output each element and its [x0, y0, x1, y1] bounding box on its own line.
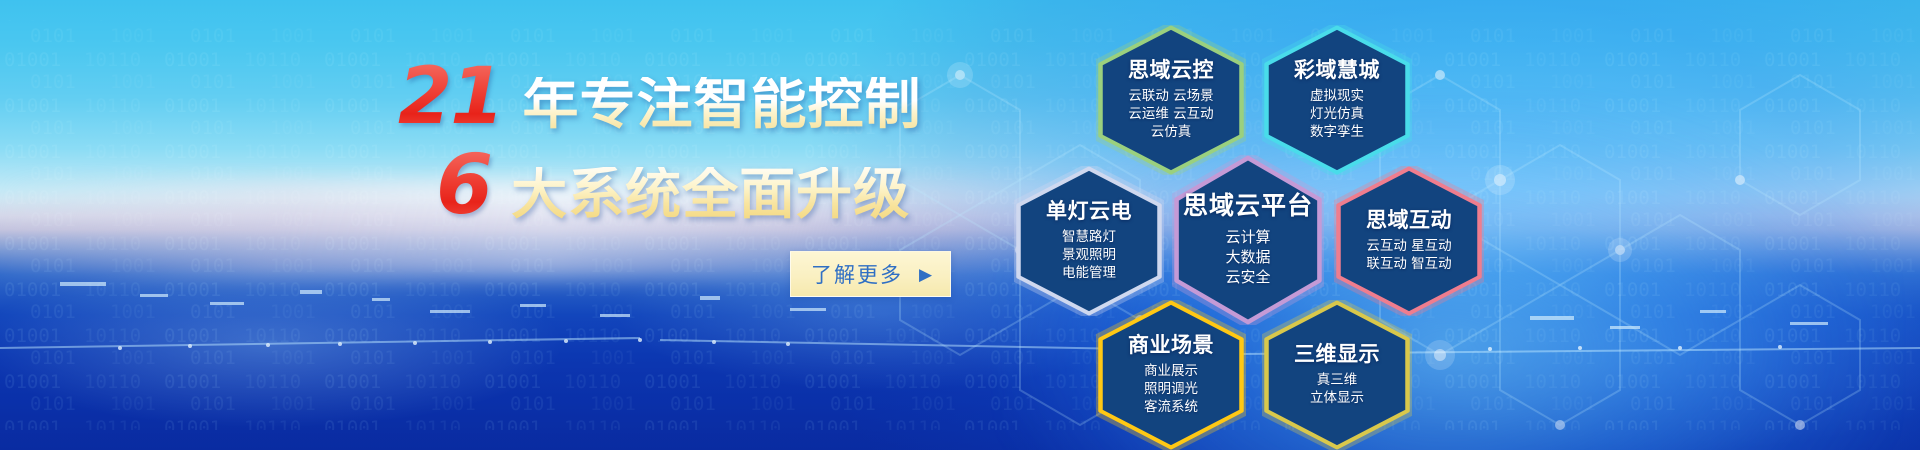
hexagon-subtitle-line: 数字孪生 [1294, 123, 1380, 141]
hexagon-title: 商业场景 [1128, 334, 1214, 357]
hexagon-subtitle-line: 大数据 [1183, 247, 1313, 267]
hexagon-subtitle-line: 虚拟现实 [1294, 87, 1380, 105]
hexagon-subtitle-list: 智慧路灯景观照明电能管理 [1046, 228, 1132, 283]
hexagon-subtitle-line: 照明调光 [1128, 380, 1214, 398]
hexagon-subtitle-line: 真三维 [1294, 371, 1380, 389]
hexagon-subtitle-line: 云仿真 [1128, 123, 1214, 141]
hexagon-siyu-hudong[interactable]: 思域互动云互动 星互动联互动 智互动 [1334, 166, 1484, 316]
hexagon-title: 单灯云电 [1046, 200, 1132, 223]
hexagon-subtitle-list: 云联动 云场景云运维 云互动云仿真 [1128, 87, 1214, 142]
hexagon-content: 商业场景商业展示照明调光客流系统 [1122, 334, 1220, 417]
hexagon-subtitle-line: 商业展示 [1128, 362, 1214, 380]
hexagon-content: 单灯云电智慧路灯景观照明电能管理 [1040, 200, 1138, 283]
hexagon-diagram: 思域云控云联动 云场景云运维 云互动云仿真彩域慧城虚拟现实灯光仿真数字孪生单灯云… [0, 0, 1920, 450]
hexagon-subtitle-line: 客流系统 [1128, 398, 1214, 416]
hexagon-subtitle-list: 云互动 星互动联互动 智互动 [1366, 237, 1452, 273]
hexagon-caiyu-huicheng[interactable]: 彩域慧城虚拟现实灯光仿真数字孪生 [1262, 25, 1412, 175]
hexagon-subtitle-list: 真三维立体显示 [1294, 371, 1380, 407]
hexagon-subtitle-line: 云联动 云场景 [1128, 87, 1214, 105]
hexagon-subtitle-line: 电能管理 [1046, 264, 1132, 282]
hexagon-siyu-yunkong[interactable]: 思域云控云联动 云场景云运维 云互动云仿真 [1096, 25, 1246, 175]
hexagon-title: 彩域慧城 [1294, 59, 1380, 82]
hexagon-subtitle-line: 云安全 [1183, 267, 1313, 287]
hexagon-subtitle-line: 云计算 [1183, 227, 1313, 247]
hexagon-subtitle-line: 智慧路灯 [1046, 228, 1132, 246]
hexagon-subtitle-list: 商业展示照明调光客流系统 [1128, 362, 1214, 417]
hexagon-dandeng-yundian[interactable]: 单灯云电智慧路灯景观照明电能管理 [1014, 166, 1164, 316]
hexagon-subtitle-line: 立体显示 [1294, 389, 1380, 407]
hexagon-subtitle-line: 云互动 星互动 [1366, 237, 1452, 255]
hexagon-shangye-changjing[interactable]: 商业场景商业展示照明调光客流系统 [1096, 300, 1246, 450]
hexagon-content: 思域云控云联动 云场景云运维 云互动云仿真 [1122, 59, 1220, 142]
hexagon-content: 思域互动云互动 星互动联互动 智互动 [1360, 209, 1458, 274]
hexagon-title: 思域云控 [1128, 59, 1214, 82]
hexagon-title: 思域云平台 [1183, 192, 1313, 220]
hexagon-subtitle-list: 云计算大数据云安全 [1183, 227, 1313, 288]
hexagon-subtitle-line: 联互动 智互动 [1366, 255, 1452, 273]
hexagon-subtitle-line: 灯光仿真 [1294, 105, 1380, 123]
hexagon-content: 三维显示真三维立体显示 [1288, 343, 1386, 408]
hexagon-title: 三维显示 [1294, 343, 1380, 366]
hexagon-content: 思域云平台云计算大数据云安全 [1177, 192, 1319, 287]
hexagon-subtitle-line: 景观照明 [1046, 246, 1132, 264]
hexagon-subtitle-line: 云运维 云互动 [1128, 105, 1214, 123]
hexagon-title: 思域互动 [1366, 209, 1452, 232]
hexagon-sanwei-xianshi[interactable]: 三维显示真三维立体显示 [1262, 300, 1412, 450]
hexagon-content: 彩域慧城虚拟现实灯光仿真数字孪生 [1288, 59, 1386, 142]
hexagon-subtitle-list: 虚拟现实灯光仿真数字孪生 [1294, 87, 1380, 142]
promo-banner: 01001 10110 0101 1001 [0, 0, 1920, 450]
